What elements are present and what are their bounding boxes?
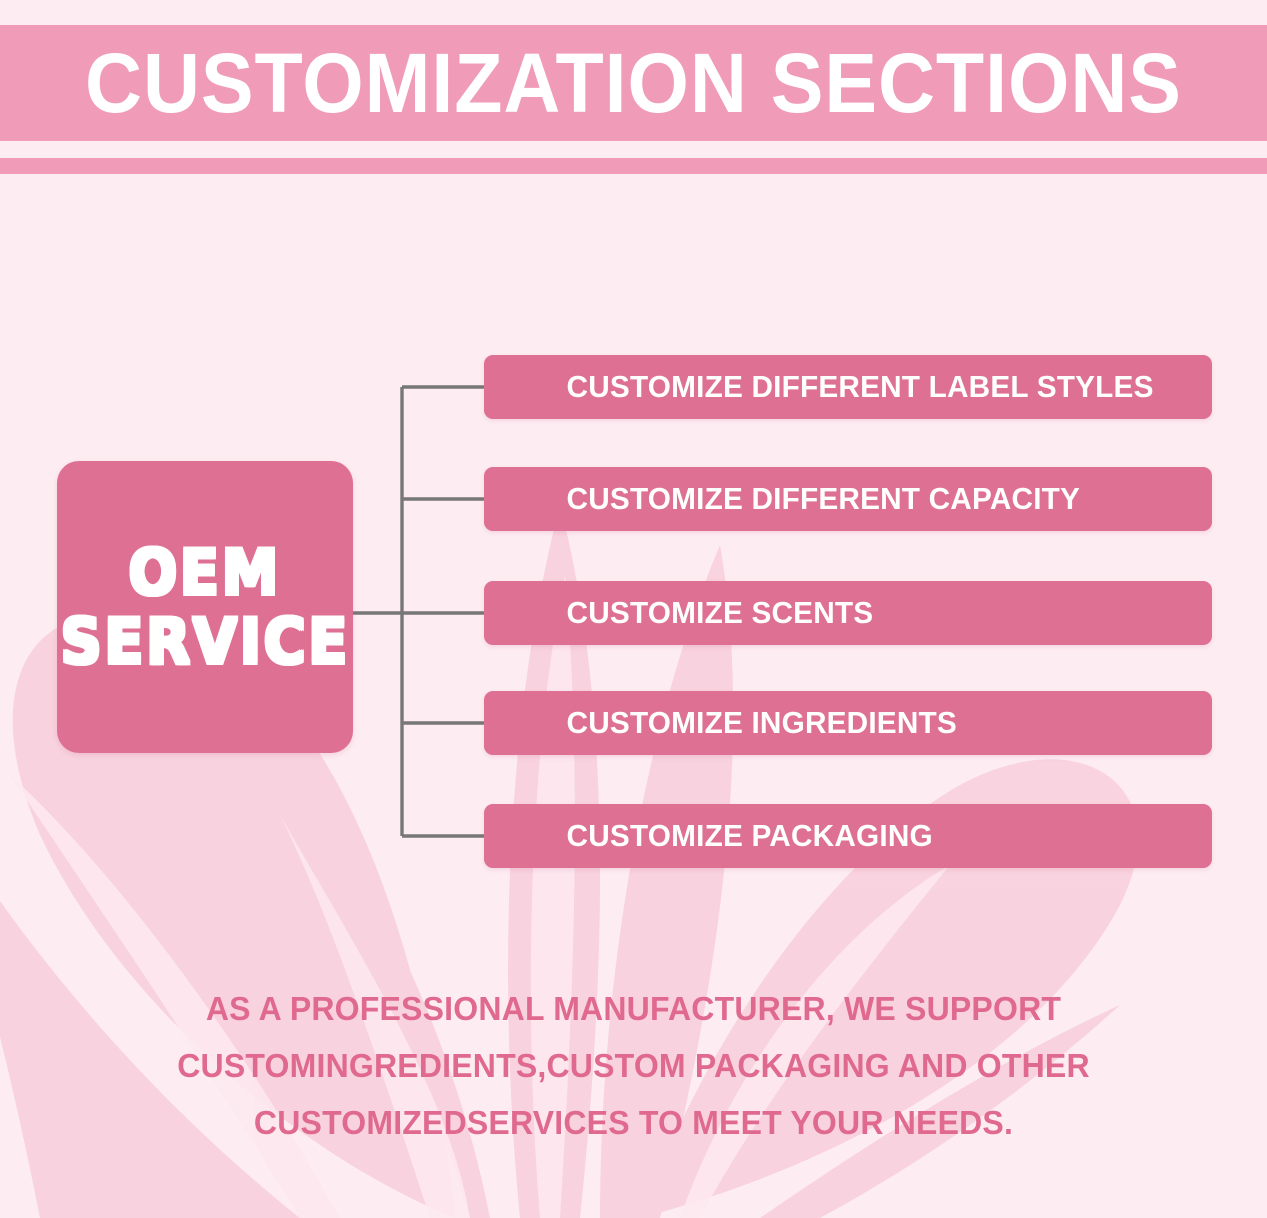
- item-box-ingredients[interactable]: CUSTOMIZE INGREDIENTS: [484, 691, 1212, 755]
- infographic-page: CUSTOMIZATION SECTIONS OEM SERVICE CUSTO…: [0, 0, 1267, 1218]
- item-label: CUSTOMIZE PACKAGING: [484, 818, 933, 854]
- footer-line-1: AS A PROFESSIONAL MANUFACTURER, WE SUPPO…: [19, 980, 1248, 1037]
- footer-description: AS A PROFESSIONAL MANUFACTURER, WE SUPPO…: [0, 980, 1267, 1151]
- item-label: CUSTOMIZE SCENTS: [484, 595, 873, 631]
- root-node-line-2: SERVICE: [60, 607, 349, 676]
- item-label: CUSTOMIZE DIFFERENT LABEL STYLES: [484, 369, 1154, 405]
- item-label: CUSTOMIZE INGREDIENTS: [484, 705, 957, 741]
- item-box-packaging[interactable]: CUSTOMIZE PACKAGING: [484, 804, 1212, 868]
- footer-line-3: CUSTOMIZEDSERVICES TO MEET YOUR NEEDS.: [19, 1094, 1248, 1151]
- item-box-capacity[interactable]: CUSTOMIZE DIFFERENT CAPACITY: [484, 467, 1212, 531]
- item-box-label-styles[interactable]: CUSTOMIZE DIFFERENT LABEL STYLES: [484, 355, 1212, 419]
- footer-line-2: CUSTOMINGREDIENTS,CUSTOM PACKAGING AND O…: [19, 1037, 1248, 1094]
- item-box-scents[interactable]: CUSTOMIZE SCENTS: [484, 581, 1212, 645]
- root-node-line-1: OEM: [129, 538, 282, 607]
- item-label: CUSTOMIZE DIFFERENT CAPACITY: [484, 481, 1080, 517]
- root-node-oem-service[interactable]: OEM SERVICE: [57, 461, 353, 753]
